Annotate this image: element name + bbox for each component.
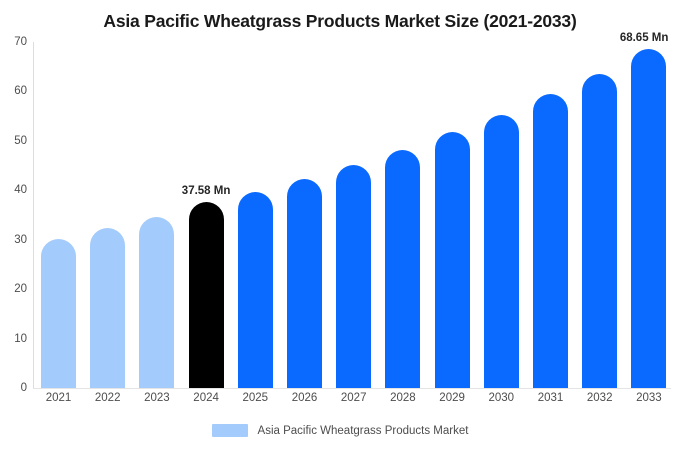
y-axis-tick-label: 20 bbox=[1, 283, 27, 295]
bar-2033[interactable]: 68.65 Mn bbox=[631, 49, 666, 388]
x-axis-tick-label-2030: 2030 bbox=[484, 392, 519, 404]
bar-2030[interactable] bbox=[484, 115, 519, 388]
bar-2025[interactable] bbox=[238, 192, 273, 388]
y-axis-tick-label: 0 bbox=[1, 382, 27, 394]
x-axis-tick-label-2031: 2031 bbox=[533, 392, 568, 404]
x-axis-tick-label-2022: 2022 bbox=[90, 392, 125, 404]
plot-area: 37.58 Mn68.65 Mn bbox=[33, 42, 671, 388]
x-axis-tick-labels: 2021202220232024202520262027202820292030… bbox=[33, 392, 671, 412]
x-axis-tick-label-2026: 2026 bbox=[287, 392, 322, 404]
x-axis-tick-label-2021: 2021 bbox=[41, 392, 76, 404]
x-axis-tick-label-2033: 2033 bbox=[631, 392, 666, 404]
bar-value-label-2024: 37.58 Mn bbox=[182, 185, 231, 197]
bar-value-label-2033: 68.65 Mn bbox=[620, 32, 669, 44]
bar-2022[interactable] bbox=[90, 228, 125, 388]
bar-2027[interactable] bbox=[336, 165, 371, 388]
bar-2024[interactable]: 37.58 Mn bbox=[189, 202, 224, 388]
chart-title: Asia Pacific Wheatgrass Products Market … bbox=[0, 11, 680, 32]
bar-2026[interactable] bbox=[287, 179, 322, 388]
x-axis-tick-label-2025: 2025 bbox=[238, 392, 273, 404]
x-axis-tick-label-2028: 2028 bbox=[385, 392, 420, 404]
bar-chart: Asia Pacific Wheatgrass Products Market … bbox=[0, 0, 680, 450]
bar-2028[interactable] bbox=[385, 150, 420, 388]
y-axis-tick-labels: 010203040506070 bbox=[0, 42, 27, 389]
legend-swatch-icon bbox=[212, 424, 248, 437]
bar-2021[interactable] bbox=[41, 239, 76, 388]
y-axis-tick-label: 50 bbox=[1, 135, 27, 147]
bar-2032[interactable] bbox=[582, 74, 617, 388]
bar-2023[interactable] bbox=[139, 217, 174, 388]
chart-legend: Asia Pacific Wheatgrass Products Market bbox=[0, 424, 680, 437]
x-axis-tick-label-2024: 2024 bbox=[189, 392, 224, 404]
bar-2029[interactable] bbox=[435, 132, 470, 388]
y-axis-tick-label: 60 bbox=[1, 85, 27, 97]
x-axis-tick-label-2032: 2032 bbox=[582, 392, 617, 404]
x-axis-tick-label-2023: 2023 bbox=[139, 392, 174, 404]
x-axis-line bbox=[33, 388, 671, 389]
x-axis-tick-label-2027: 2027 bbox=[336, 392, 371, 404]
x-axis-tick-label-2029: 2029 bbox=[435, 392, 470, 404]
y-axis-tick-label: 70 bbox=[1, 36, 27, 48]
legend-item-label: Asia Pacific Wheatgrass Products Market bbox=[258, 425, 469, 437]
y-axis-tick-label: 40 bbox=[1, 184, 27, 196]
bar-2031[interactable] bbox=[533, 94, 568, 388]
y-axis-tick-label: 10 bbox=[1, 333, 27, 345]
y-axis-tick-label: 30 bbox=[1, 234, 27, 246]
